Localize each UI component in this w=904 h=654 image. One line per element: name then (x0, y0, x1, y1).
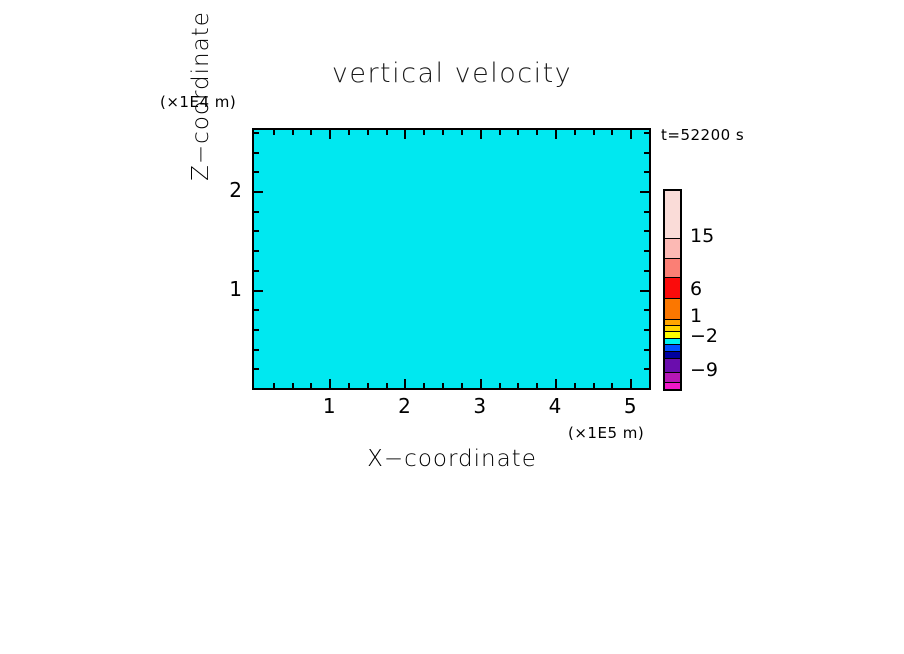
x-tick-minor (461, 383, 463, 388)
x-tick-minor (461, 130, 463, 135)
colorbar-band (665, 259, 680, 278)
x-tick-minor (517, 130, 519, 135)
colorbar-tick-label: −9 (690, 359, 718, 381)
y-tick-major (640, 290, 649, 292)
x-tick-minor (273, 130, 275, 135)
colorbar-band (665, 299, 680, 320)
y-tick-minor (644, 152, 649, 154)
x-tick-major (329, 130, 331, 139)
x-tick-major (630, 130, 632, 139)
y-tick-minor (644, 270, 649, 272)
y-tick-minor (254, 171, 259, 173)
y-tick-minor (254, 250, 259, 252)
x-tick-minor (292, 130, 294, 135)
x-tick-major (480, 130, 482, 139)
y-tick-label: 1 (212, 277, 242, 301)
y-tick-minor (644, 309, 649, 311)
y-tick-minor (644, 171, 649, 173)
y-tick-minor (254, 368, 259, 370)
time-annotation: t=52200 s (661, 126, 744, 144)
x-tick-major (555, 379, 557, 388)
x-tick-minor (367, 383, 369, 388)
colorbar (663, 189, 682, 391)
colorbar-band (665, 345, 680, 352)
x-tick-minor (348, 130, 350, 135)
y-tick-minor (254, 349, 259, 351)
page-title: vertical velocity (0, 58, 904, 89)
x-tick-minor (310, 383, 312, 388)
y-tick-label: 2 (212, 178, 242, 202)
colorbar-band (665, 191, 680, 239)
y-tick-minor (644, 349, 649, 351)
y-tick-minor (644, 211, 649, 213)
colorbar-tick-label: 1 (690, 305, 702, 327)
colorbar-band (665, 278, 680, 299)
colorbar-band (665, 352, 680, 359)
x-tick-minor (611, 130, 613, 135)
x-tick-major (555, 130, 557, 139)
colorbar-band (665, 383, 680, 389)
colorbar-band (665, 239, 680, 259)
colorbar-tick-label: 6 (690, 278, 702, 300)
colorbar-tick-label: 15 (690, 225, 714, 247)
x-tick-label: 3 (460, 394, 500, 418)
x-tick-major (404, 379, 406, 388)
x-tick-major (329, 379, 331, 388)
x-tick-minor (423, 383, 425, 388)
y-tick-major (254, 191, 263, 193)
x-tick-minor (574, 383, 576, 388)
y-tick-minor (254, 309, 259, 311)
colorbar-tick-label: −2 (690, 325, 718, 347)
x-tick-minor (442, 383, 444, 388)
y-tick-minor (644, 230, 649, 232)
colorbar-band (665, 332, 680, 339)
y-tick-minor (254, 211, 259, 213)
colorbar-band (665, 359, 680, 373)
x-tick-minor (536, 383, 538, 388)
x-tick-minor (273, 383, 275, 388)
x-tick-label: 2 (384, 394, 424, 418)
y-tick-minor (254, 132, 259, 134)
y-tick-minor (644, 329, 649, 331)
x-axis-unit-label: (×1E5 m) (568, 424, 644, 442)
x-tick-minor (442, 130, 444, 135)
x-tick-major (480, 379, 482, 388)
x-tick-minor (423, 130, 425, 135)
x-tick-minor (611, 383, 613, 388)
x-tick-minor (310, 130, 312, 135)
x-tick-label: 4 (535, 394, 575, 418)
y-tick-major (640, 191, 649, 193)
x-tick-minor (367, 130, 369, 135)
x-tick-minor (386, 383, 388, 388)
colorbar-band (665, 373, 680, 383)
x-tick-minor (593, 130, 595, 135)
x-tick-major (630, 379, 632, 388)
x-tick-minor (292, 383, 294, 388)
plot-area (252, 128, 651, 390)
x-tick-minor (386, 130, 388, 135)
x-tick-major (404, 130, 406, 139)
x-tick-minor (536, 130, 538, 135)
velocity-field-canvas (254, 130, 649, 388)
y-tick-minor (644, 250, 649, 252)
x-tick-minor (499, 383, 501, 388)
y-tick-minor (644, 368, 649, 370)
y-tick-minor (254, 329, 259, 331)
x-tick-minor (348, 383, 350, 388)
x-tick-label: 1 (309, 394, 349, 418)
x-axis-title: X−coordinate (0, 446, 904, 472)
y-tick-minor (254, 152, 259, 154)
y-axis-title: Z−coordinate (186, 0, 216, 203)
y-tick-minor (254, 270, 259, 272)
y-tick-major (254, 290, 263, 292)
x-tick-minor (499, 130, 501, 135)
y-tick-minor (644, 132, 649, 134)
x-tick-minor (593, 383, 595, 388)
x-tick-minor (574, 130, 576, 135)
y-tick-minor (254, 230, 259, 232)
x-tick-minor (517, 383, 519, 388)
x-tick-label: 5 (610, 394, 650, 418)
